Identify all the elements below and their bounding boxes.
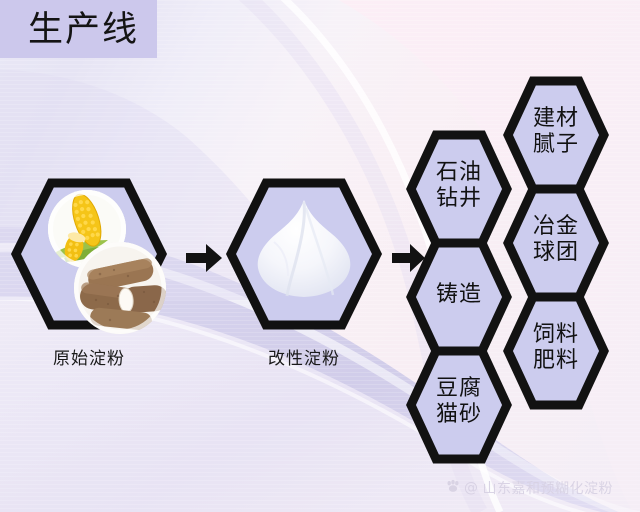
caption-raw-starch: 原始淀粉 bbox=[12, 348, 166, 370]
arrow-1-icon bbox=[184, 241, 224, 279]
hex-building-putty: 建材 腻子 bbox=[503, 76, 609, 194]
hexagon-shape bbox=[406, 130, 512, 248]
powder-illustration bbox=[254, 198, 354, 300]
right-arrow-glyph bbox=[392, 241, 426, 275]
right-arrow-glyph bbox=[184, 241, 224, 275]
cassava-photo bbox=[74, 242, 166, 334]
watermark-at: @ bbox=[464, 480, 479, 496]
arrow-2-icon bbox=[392, 241, 426, 279]
slide-canvas: 生产线 bbox=[0, 0, 640, 512]
watermark-text: 山东嘉和预糊化淀粉 bbox=[483, 478, 614, 498]
page-title: 生产线 bbox=[28, 8, 139, 52]
cassava-illustration bbox=[74, 242, 166, 334]
hex-modified-starch bbox=[227, 178, 381, 330]
paw-glyph bbox=[446, 479, 460, 493]
hex-tofu-cat-litter: 豆腐 猫砂 bbox=[406, 346, 512, 464]
hex-feed-fertilizer: 饲料 肥料 bbox=[503, 292, 609, 410]
hex-oil-drilling: 石油 钻井 bbox=[406, 130, 512, 248]
white-powder-photo bbox=[254, 198, 354, 300]
caption-modified-starch: 改性淀粉 bbox=[227, 348, 381, 370]
hexagon-shape bbox=[503, 76, 609, 194]
hex-metallurgy-pellet: 冶金 球团 bbox=[503, 184, 609, 302]
hexagon-shape bbox=[503, 292, 609, 410]
hexagon-shape bbox=[406, 346, 512, 464]
hex-raw-starch bbox=[12, 178, 166, 330]
paw-icon bbox=[446, 479, 460, 497]
hexagon-shape bbox=[503, 184, 609, 302]
watermark: @ 山东嘉和预糊化淀粉 bbox=[446, 478, 613, 498]
